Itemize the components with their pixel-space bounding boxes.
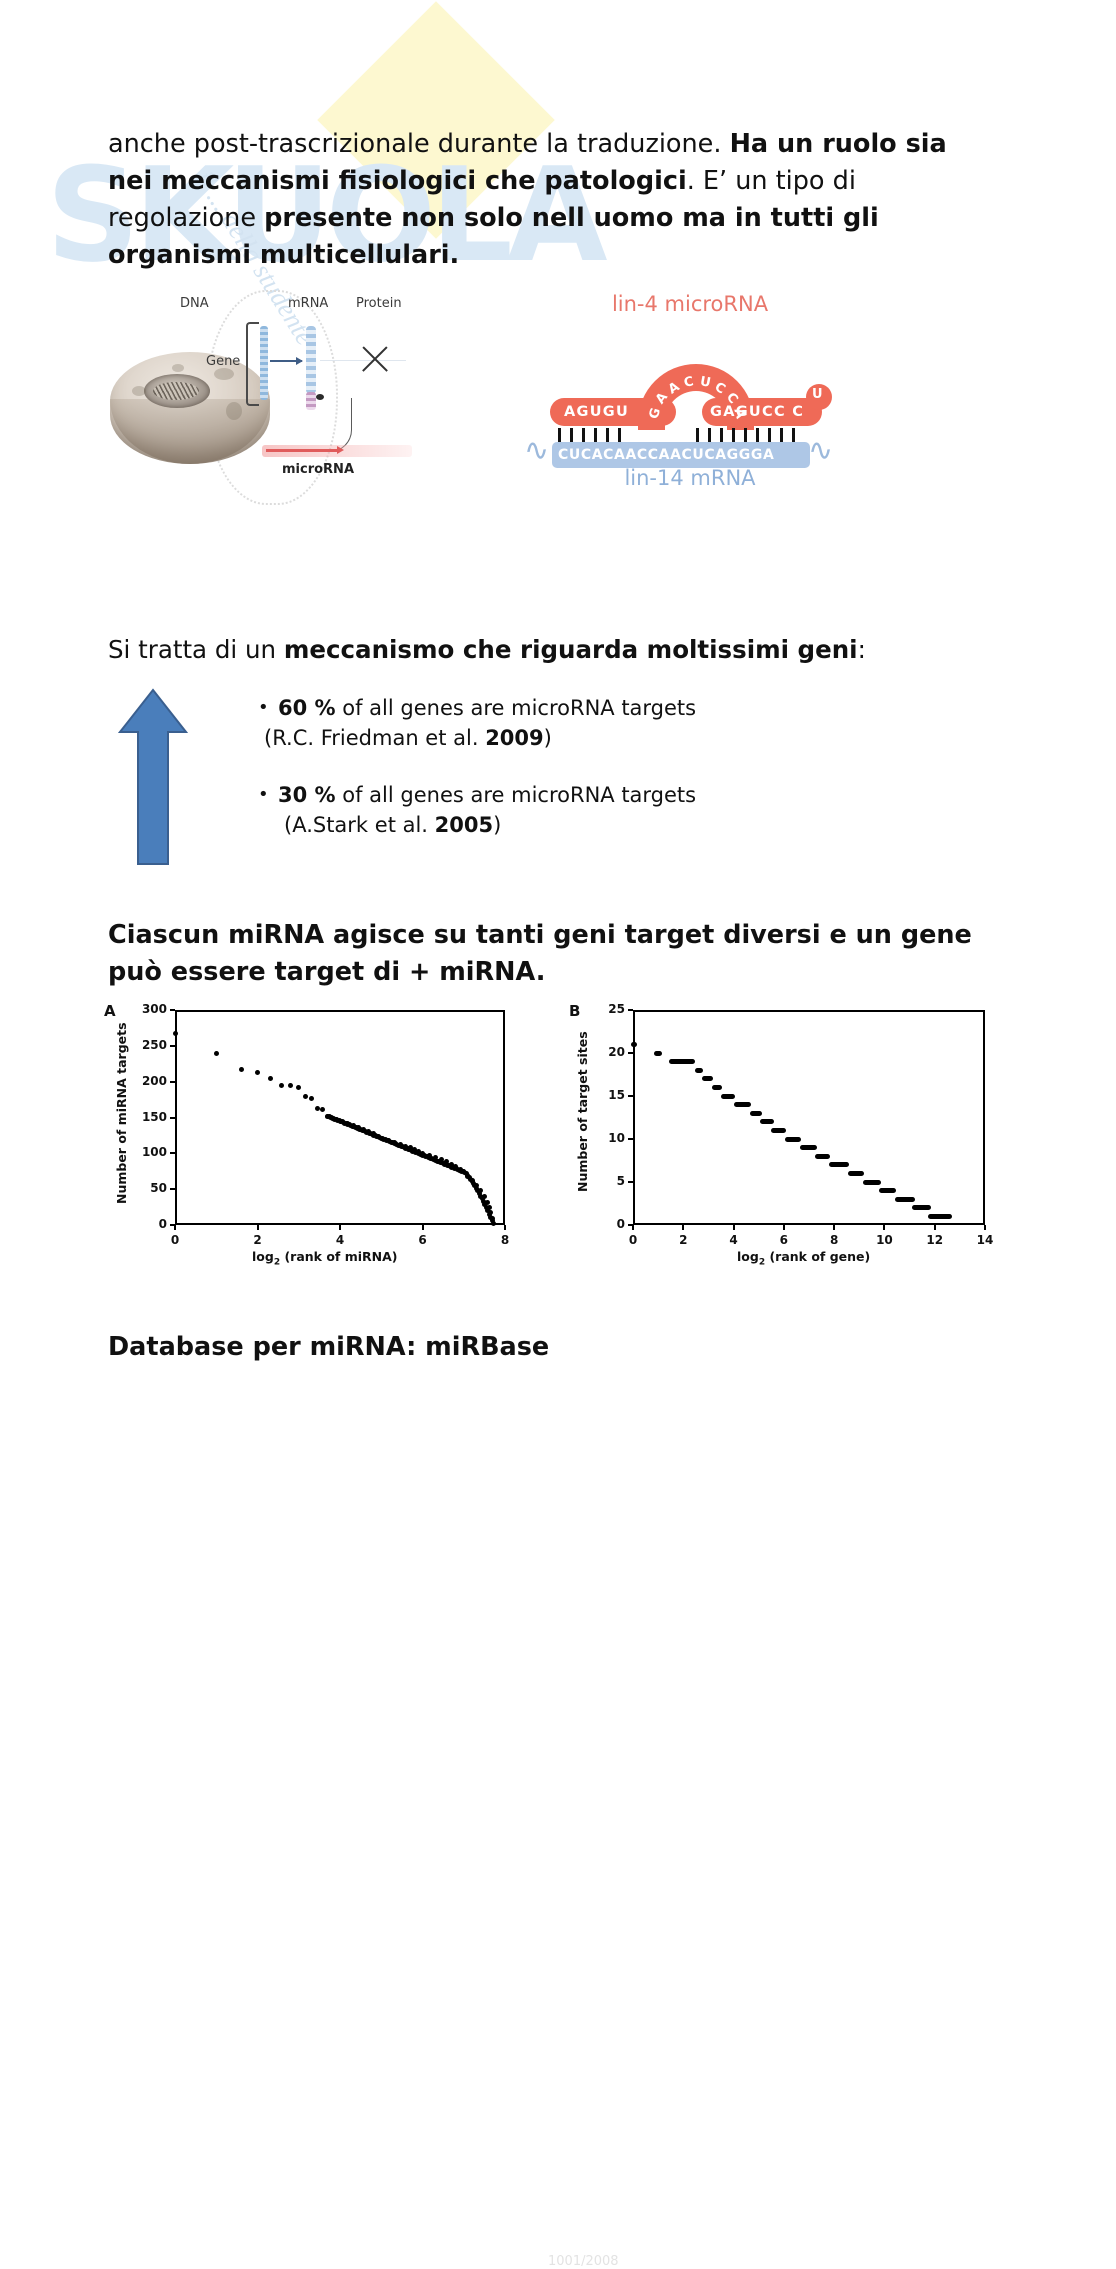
bullet-citation: (A.Stark et al. 2005)	[284, 810, 818, 840]
data-level-segment	[734, 1102, 752, 1107]
x-tick-mark	[422, 1225, 424, 1230]
x-tick-mark	[682, 1225, 684, 1230]
organelle	[172, 364, 184, 372]
mirna-hairpin-shape: AGUGU GAGUCC C U GAACUCCA	[550, 368, 822, 430]
transcription-arrow	[270, 360, 302, 362]
label-gene: Gene	[206, 354, 240, 369]
mirna-targets-heading: Ciascun miRNA agisce su tanti geni targe…	[108, 917, 998, 991]
cell-silencing-diagram: DNA mRNA Protein Gene microRNA	[110, 290, 430, 505]
block-x-icon	[358, 342, 392, 376]
x-tick-mark	[934, 1225, 936, 1230]
data-level-segment	[815, 1154, 830, 1159]
mrna-sequence: CUCACAACCAACUCAGGGA	[558, 447, 774, 463]
x-tick-mark	[733, 1225, 735, 1230]
mirna-right-sequence: GAGUCC C	[710, 404, 804, 420]
y-tick-mark	[628, 1181, 633, 1183]
y-tick-label: 50	[133, 1181, 167, 1195]
data-level-segment	[631, 1042, 637, 1047]
organelle	[214, 368, 234, 380]
bullet-marker: •	[258, 694, 278, 721]
data-point	[239, 1067, 244, 1072]
data-level-segment	[912, 1205, 931, 1210]
y-tick-label: 150	[133, 1110, 167, 1124]
data-level-segment	[669, 1059, 694, 1064]
label-dna: DNA	[180, 296, 209, 311]
y-tick-mark	[170, 1045, 175, 1047]
y-tick-mark	[628, 1138, 633, 1140]
data-level-segment	[695, 1068, 704, 1073]
data-level-segment	[848, 1171, 864, 1176]
panel-b-x-label: log2 (rank of gene)	[737, 1249, 870, 1268]
mrna-strand	[306, 326, 316, 394]
data-level-segment	[654, 1051, 662, 1056]
charts-figure: A Number of miRNA targets log2 (rank of …	[0, 996, 1116, 1276]
up-arrow-icon	[118, 686, 188, 866]
organelle	[226, 402, 242, 420]
panel-b-plot-area	[633, 1010, 985, 1225]
mirna-cap-base: U	[812, 387, 823, 402]
x-tick-label: 8	[822, 1233, 846, 1247]
x-tick-label: 10	[872, 1233, 896, 1247]
x-tick-label: 8	[493, 1233, 517, 1247]
data-point	[255, 1070, 260, 1075]
data-level-segment	[760, 1119, 774, 1124]
y-tick-label: 100	[133, 1145, 167, 1159]
data-level-segment	[785, 1137, 801, 1142]
bullet-citation: (R.C. Friedman et al. 2009)	[264, 723, 818, 753]
intro-paragraph: anche post-trascrizionale durante la tra…	[108, 126, 988, 274]
x-tick-mark	[833, 1225, 835, 1230]
x-tick-mark	[504, 1225, 506, 1230]
y-tick-mark	[628, 1052, 633, 1054]
y-tick-label: 10	[591, 1131, 625, 1145]
data-point	[490, 1218, 495, 1223]
mrna-right-squiggle: ∿	[808, 436, 842, 466]
x-tick-label: 6	[772, 1233, 796, 1247]
y-tick-mark	[170, 1152, 175, 1154]
data-level-segment	[702, 1076, 713, 1081]
y-tick-label: 5	[591, 1174, 625, 1188]
y-tick-label: 250	[133, 1038, 167, 1052]
bullet-block: •60 % of all genes are microRNA targets(…	[0, 686, 1116, 866]
bullet-item: •60 % of all genes are microRNA targets(…	[258, 694, 818, 753]
x-tick-label: 0	[621, 1233, 645, 1247]
panel-a-letter: A	[104, 1002, 116, 1020]
data-point	[173, 1031, 178, 1036]
x-tick-label: 6	[411, 1233, 435, 1247]
bullet-text: 60 % of all genes are microRNA targets	[278, 694, 696, 723]
label-protein: Protein	[356, 296, 402, 311]
x-tick-mark	[632, 1225, 634, 1230]
x-tick-mark	[257, 1225, 259, 1230]
x-tick-label: 0	[163, 1233, 187, 1247]
chart-panel-b: B Number of target sites log2 (rank of g…	[565, 996, 1005, 1276]
bullet-item: •30 % of all genes are microRNA targets(…	[258, 781, 818, 840]
data-level-segment	[771, 1128, 786, 1133]
organelle	[132, 386, 146, 396]
figure-row: DNA mRNA Protein Gene microRNA lin-4 mic…	[0, 280, 1116, 520]
panel-b-letter: B	[569, 1002, 580, 1020]
data-level-segment	[750, 1111, 763, 1116]
label-microrna: microRNA	[282, 462, 354, 477]
document-page: anche post-trascrizionale durante la tra…	[0, 0, 1116, 1579]
mechanism-line: Si tratta di un meccanismo che riguarda …	[108, 631, 988, 668]
chart-panel-a: A Number of miRNA targets log2 (rank of …	[100, 996, 530, 1276]
y-tick-label: 0	[133, 1217, 167, 1231]
data-level-segment	[721, 1094, 735, 1099]
mirna-left-sequence: AGUGU	[564, 404, 629, 420]
x-tick-label: 12	[923, 1233, 947, 1247]
y-tick-mark	[170, 1188, 175, 1190]
mirna-arrow	[266, 449, 338, 452]
y-tick-label: 20	[591, 1045, 625, 1059]
lin4-title: lin-4 microRNA	[540, 292, 840, 316]
x-tick-mark	[783, 1225, 785, 1230]
x-tick-label: 2	[246, 1233, 270, 1247]
database-line: Database per miRNA: miRBase	[108, 1329, 808, 1366]
x-tick-mark	[883, 1225, 885, 1230]
data-level-segment	[800, 1145, 816, 1150]
y-tick-mark	[628, 1009, 633, 1011]
y-tick-label: 15	[591, 1088, 625, 1102]
bullet-marker: •	[258, 781, 278, 808]
x-tick-mark	[174, 1225, 176, 1230]
y-tick-label: 0	[591, 1217, 625, 1231]
cell-nucleus	[144, 374, 210, 408]
y-tick-label: 300	[133, 1002, 167, 1016]
lin4-lin14-duplex-diagram: lin-4 microRNA lin-14 mRNA AGUGU GAGUCC …	[540, 286, 840, 506]
panel-a-y-label: Number of miRNA targets	[114, 1022, 129, 1204]
x-tick-label: 14	[973, 1233, 997, 1247]
statistics-bullet-list: •60 % of all genes are microRNA targets(…	[258, 694, 818, 868]
data-level-segment	[829, 1162, 849, 1167]
x-tick-label: 2	[671, 1233, 695, 1247]
data-level-segment	[712, 1085, 722, 1090]
mirna-binding-dot	[316, 394, 324, 400]
data-level-segment	[879, 1188, 895, 1193]
label-mrna: mRNA	[288, 296, 328, 311]
data-point	[279, 1083, 284, 1088]
bullet-text: 30 % of all genes are microRNA targets	[278, 781, 696, 810]
x-tick-label: 4	[722, 1233, 746, 1247]
scan-artifact-text: 1001/2008	[548, 2254, 619, 2269]
x-tick-mark	[984, 1225, 986, 1230]
x-tick-label: 4	[328, 1233, 352, 1247]
y-tick-mark	[170, 1009, 175, 1011]
data-point	[214, 1051, 219, 1056]
panel-b-y-label: Number of target sites	[575, 1031, 590, 1192]
gene-bracket	[246, 322, 259, 406]
mirna-hook-path	[308, 398, 352, 452]
y-tick-mark	[170, 1117, 175, 1119]
y-tick-label: 25	[591, 1002, 625, 1016]
panel-a-x-label: log2 (rank of miRNA)	[252, 1249, 397, 1268]
x-tick-mark	[339, 1225, 341, 1230]
data-level-segment	[928, 1214, 952, 1219]
dna-strand	[260, 326, 268, 400]
lin14-title: lin-14 mRNA	[540, 466, 840, 490]
y-tick-mark	[170, 1081, 175, 1083]
y-tick-mark	[628, 1095, 633, 1097]
data-level-segment	[895, 1197, 915, 1202]
data-level-segment	[863, 1180, 881, 1185]
y-tick-label: 200	[133, 1074, 167, 1088]
